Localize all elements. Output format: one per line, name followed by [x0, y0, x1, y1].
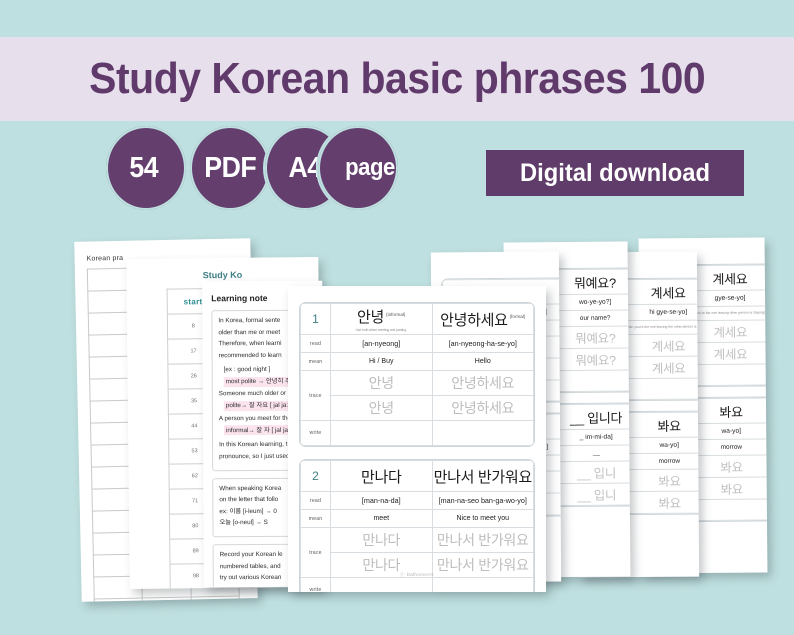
listing-image: Study Korean basic phrases 100 PDF A4 pa…: [0, 0, 794, 635]
phrase-tag: (informal): [386, 312, 405, 317]
phrase-trace-right: 안녕하세요: [432, 396, 534, 421]
page-title: Study Korean basic phrases 100: [89, 54, 705, 104]
phrase-headword-right: 만나서 반가워요: [432, 461, 534, 492]
phrase-trace-left: 안녕: [331, 371, 433, 396]
digital-download-label: Digital download: [520, 159, 710, 188]
badge-page: page: [316, 124, 400, 212]
digital-download-badge: Digital download: [486, 150, 744, 196]
phrase-read-right: [an-nyeong-ha-se-yo]: [432, 335, 534, 353]
note-politeness-text: most polite → 안녕히 주: [224, 376, 293, 386]
phrase-mean-right: Hello: [432, 353, 534, 371]
phrase-write-right[interactable]: [432, 421, 534, 446]
watermark: ⓒ DalhomeArt: [288, 572, 546, 578]
phrase-read-left: [an-nyeong]: [331, 335, 433, 353]
phrase-mean-right: Nice to meet you: [432, 510, 534, 528]
phrase-write-right[interactable]: [432, 578, 534, 593]
phrase-read-left: [man-na-da]: [331, 492, 433, 510]
phrase-mean-left: meet: [331, 510, 433, 528]
note-politeness-text: informal→ 잘 자 [ jal ja: [224, 425, 290, 435]
page-phrase-main: 1 안녕(informal) Use both when meeting and…: [288, 286, 546, 592]
phrase-trace-left: 만나다: [331, 528, 433, 553]
phrase-headword-right: 안녕하세요(formal): [432, 304, 534, 335]
format-badges: PDF A4 page 54: [113, 124, 400, 212]
badge-pdf-label: PDF: [204, 154, 256, 183]
badge-page-label: page: [321, 156, 395, 180]
phrase-headword-left: 만나다: [331, 461, 433, 492]
study-page-title: Study Ko: [126, 269, 318, 281]
row-label-read: read: [301, 492, 331, 510]
phrase-number: 2: [301, 461, 331, 492]
note-politeness-text: polite→ 잘 자요 [ jal ja:: [224, 401, 290, 411]
row-label-mean: mean: [301, 353, 331, 371]
row-label-write: write: [301, 578, 331, 593]
phrase-write-left[interactable]: [331, 578, 433, 593]
phrase-trace-left: 안녕: [331, 396, 433, 421]
phrase-read-right: [man-na-seo ban-ga-wo-yo]: [432, 492, 534, 510]
phrase-word: 안녕하세요: [440, 312, 508, 329]
phrase-trace-right: 안녕하세요: [432, 371, 534, 396]
row-label-write: write: [301, 421, 331, 446]
badge-count-label: 54: [130, 154, 162, 183]
phrase-card-1: 1 안녕(informal) Use both when meeting and…: [299, 302, 535, 447]
phrase-trace-right: 만나서 반가워요: [432, 528, 534, 553]
phrase-word: 만나서 반가워요: [434, 469, 532, 486]
phrase-tag: (formal): [510, 314, 526, 319]
phrase-word: 안녕: [357, 309, 384, 326]
phrase-subnote: Use both when meeting and parting.: [331, 328, 432, 332]
phrase-table: 1 안녕(informal) Use both when meeting and…: [300, 303, 534, 446]
phrase-number: 1: [301, 304, 331, 335]
badge-pdf: PDF: [188, 124, 272, 212]
phrase-mean-left: Hi / Buy: [331, 353, 433, 371]
title-band: Study Korean basic phrases 100: [0, 37, 794, 121]
row-label-trace: trace: [301, 528, 331, 578]
phrase-word: 만나다: [361, 469, 402, 486]
badge-count: 54: [104, 124, 188, 212]
phrase-write-left[interactable]: [331, 421, 433, 446]
row-label-trace: trace: [301, 371, 331, 421]
row-label-read: read: [301, 335, 331, 353]
phrase-headword-left: 안녕(informal) Use both when meeting and p…: [331, 304, 433, 335]
row-label-mean: mean: [301, 510, 331, 528]
